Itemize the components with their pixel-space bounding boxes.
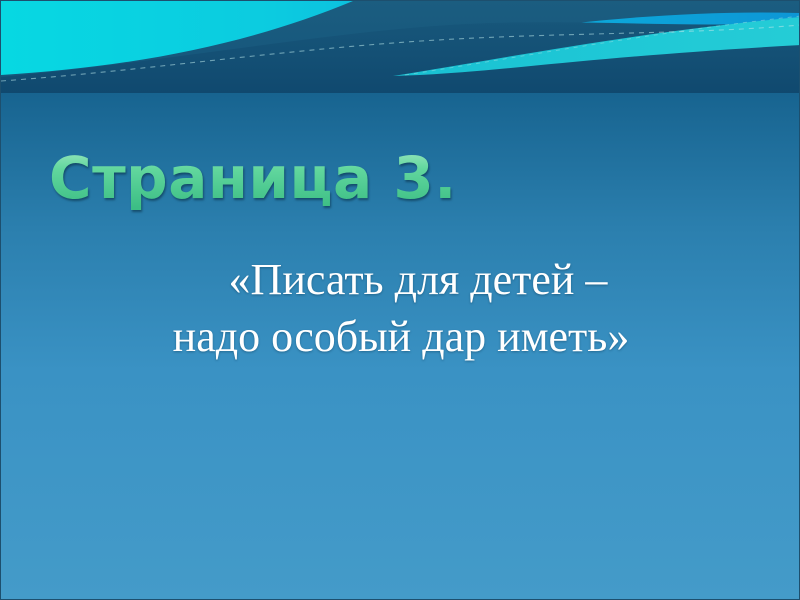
subtitle-line-2: надо особый дар иметь» <box>41 308 761 365</box>
slide-content: Страница 3. «Писать для детей – надо осо… <box>1 1 800 600</box>
slide-title: Страница 3. <box>49 147 753 210</box>
slide-canvas: Страница 3. «Писать для детей – надо осо… <box>0 0 800 600</box>
subtitle-line-1: «Писать для детей – <box>41 251 761 308</box>
slide-subtitle: «Писать для детей – надо особый дар имет… <box>41 251 761 365</box>
